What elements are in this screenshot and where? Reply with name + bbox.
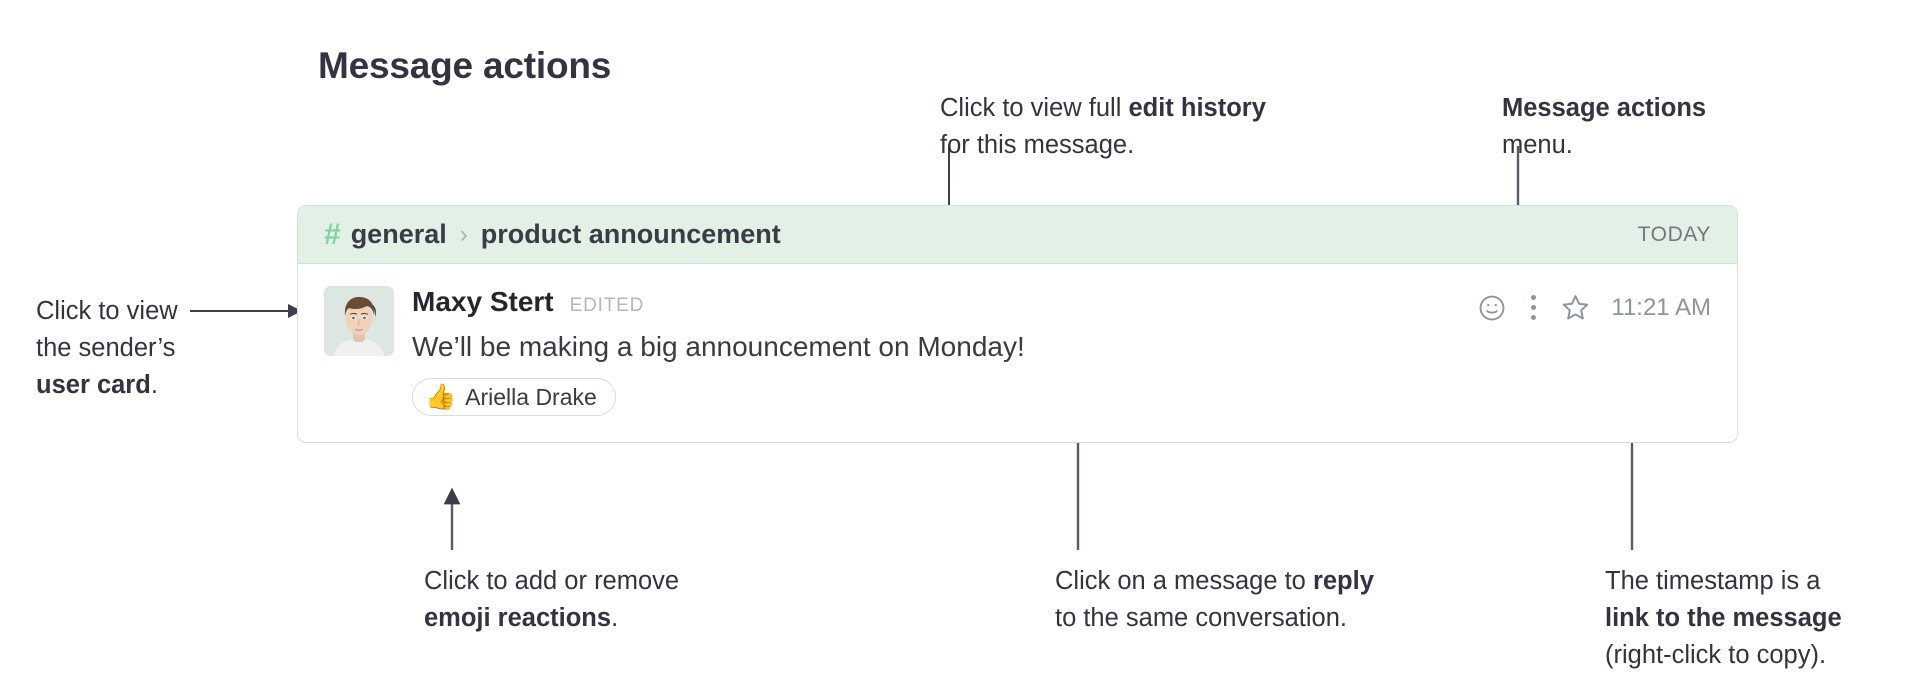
- annotation-timestamp-line1: The timestamp is a: [1605, 563, 1842, 600]
- topic-name-link[interactable]: product announcement: [481, 219, 781, 250]
- annotation-reply-line1-pre: Click on a message to: [1055, 567, 1313, 595]
- hash-icon: #: [324, 220, 341, 250]
- star-message-icon[interactable]: [1560, 292, 1591, 323]
- illustration-canvas: Message actions Click to view full edit …: [0, 0, 1924, 696]
- smiley-face-glyph: [1477, 293, 1507, 323]
- annotation-emoji-reactions-emphasis: emoji reactions: [424, 604, 611, 632]
- page-title: Message actions: [318, 45, 611, 87]
- avatar[interactable]: [324, 286, 394, 356]
- star-glyph: [1560, 292, 1591, 323]
- message-actions-toolbar: 11:21 AM: [1477, 292, 1711, 323]
- annotation-user-card: Click to view the sender’s user card.: [36, 293, 178, 404]
- sender-name[interactable]: Maxy Stert: [412, 286, 554, 318]
- annotation-emoji-reactions-line1: Click to add or remove: [424, 563, 679, 600]
- annotation-timestamp-line3: (right-click to copy).: [1605, 637, 1842, 674]
- annotation-edit-history-emphasis: edit history: [1128, 94, 1265, 122]
- message-actions-menu-icon[interactable]: [1531, 295, 1536, 320]
- annotation-user-card-emphasis: user card: [36, 371, 151, 399]
- annotation-user-card-line1: Click to view: [36, 293, 178, 330]
- message-timestamp-link[interactable]: 11:21 AM: [1611, 294, 1711, 322]
- add-reaction-icon[interactable]: [1477, 293, 1507, 323]
- annotation-reply: Click on a message to reply to the same …: [1055, 563, 1374, 637]
- channel-name-link[interactable]: general: [351, 219, 447, 250]
- annotation-message-actions-line2: menu.: [1502, 127, 1706, 164]
- annotation-timestamp-link: The timestamp is a link to the message (…: [1605, 563, 1842, 674]
- edited-badge[interactable]: EDITED: [570, 295, 644, 317]
- annotation-user-card-line3-post: .: [151, 371, 158, 399]
- kebab-dot-3: [1531, 315, 1536, 320]
- annotation-timestamp-emphasis: link to the message: [1605, 604, 1842, 632]
- reaction-label: Ariella Drake: [465, 384, 597, 411]
- message-text[interactable]: We’ll be making a big announcement on Mo…: [412, 331, 1711, 363]
- chevron-right-icon: ›: [460, 223, 468, 247]
- annotation-emoji-reactions-line2-post: .: [611, 604, 618, 632]
- channel-header: # general › product announcement TODAY: [298, 206, 1737, 264]
- kebab-dot-2: [1531, 305, 1536, 310]
- annotation-edit-history-line2: for this message.: [940, 127, 1266, 164]
- annotation-message-actions-emphasis: Message actions: [1502, 94, 1706, 122]
- annotation-emoji-reactions: Click to add or remove emoji reactions.: [424, 563, 679, 637]
- reaction-list: 👍 Ariella Drake: [412, 378, 1711, 416]
- kebab-dots: [1531, 295, 1536, 320]
- annotation-reply-emphasis: reply: [1313, 567, 1374, 595]
- message-row[interactable]: Maxy Stert EDITED We’ll be making a big …: [298, 264, 1737, 442]
- kebab-dot-1: [1531, 295, 1536, 300]
- avatar-image: [324, 286, 394, 356]
- annotation-reply-line2: to the same conversation.: [1055, 600, 1374, 637]
- annotation-user-card-line2: the sender’s: [36, 330, 178, 367]
- thumbs-up-icon: 👍: [425, 385, 456, 410]
- reaction-pill[interactable]: 👍 Ariella Drake: [412, 378, 616, 416]
- annotation-edit-history-line1-pre: Click to view full: [940, 94, 1128, 122]
- message-card: # general › product announcement TODAY: [297, 205, 1738, 443]
- annotation-edit-history: Click to view full edit history for this…: [940, 90, 1266, 164]
- annotation-message-actions: Message actions menu.: [1502, 90, 1706, 164]
- date-label: TODAY: [1638, 223, 1711, 247]
